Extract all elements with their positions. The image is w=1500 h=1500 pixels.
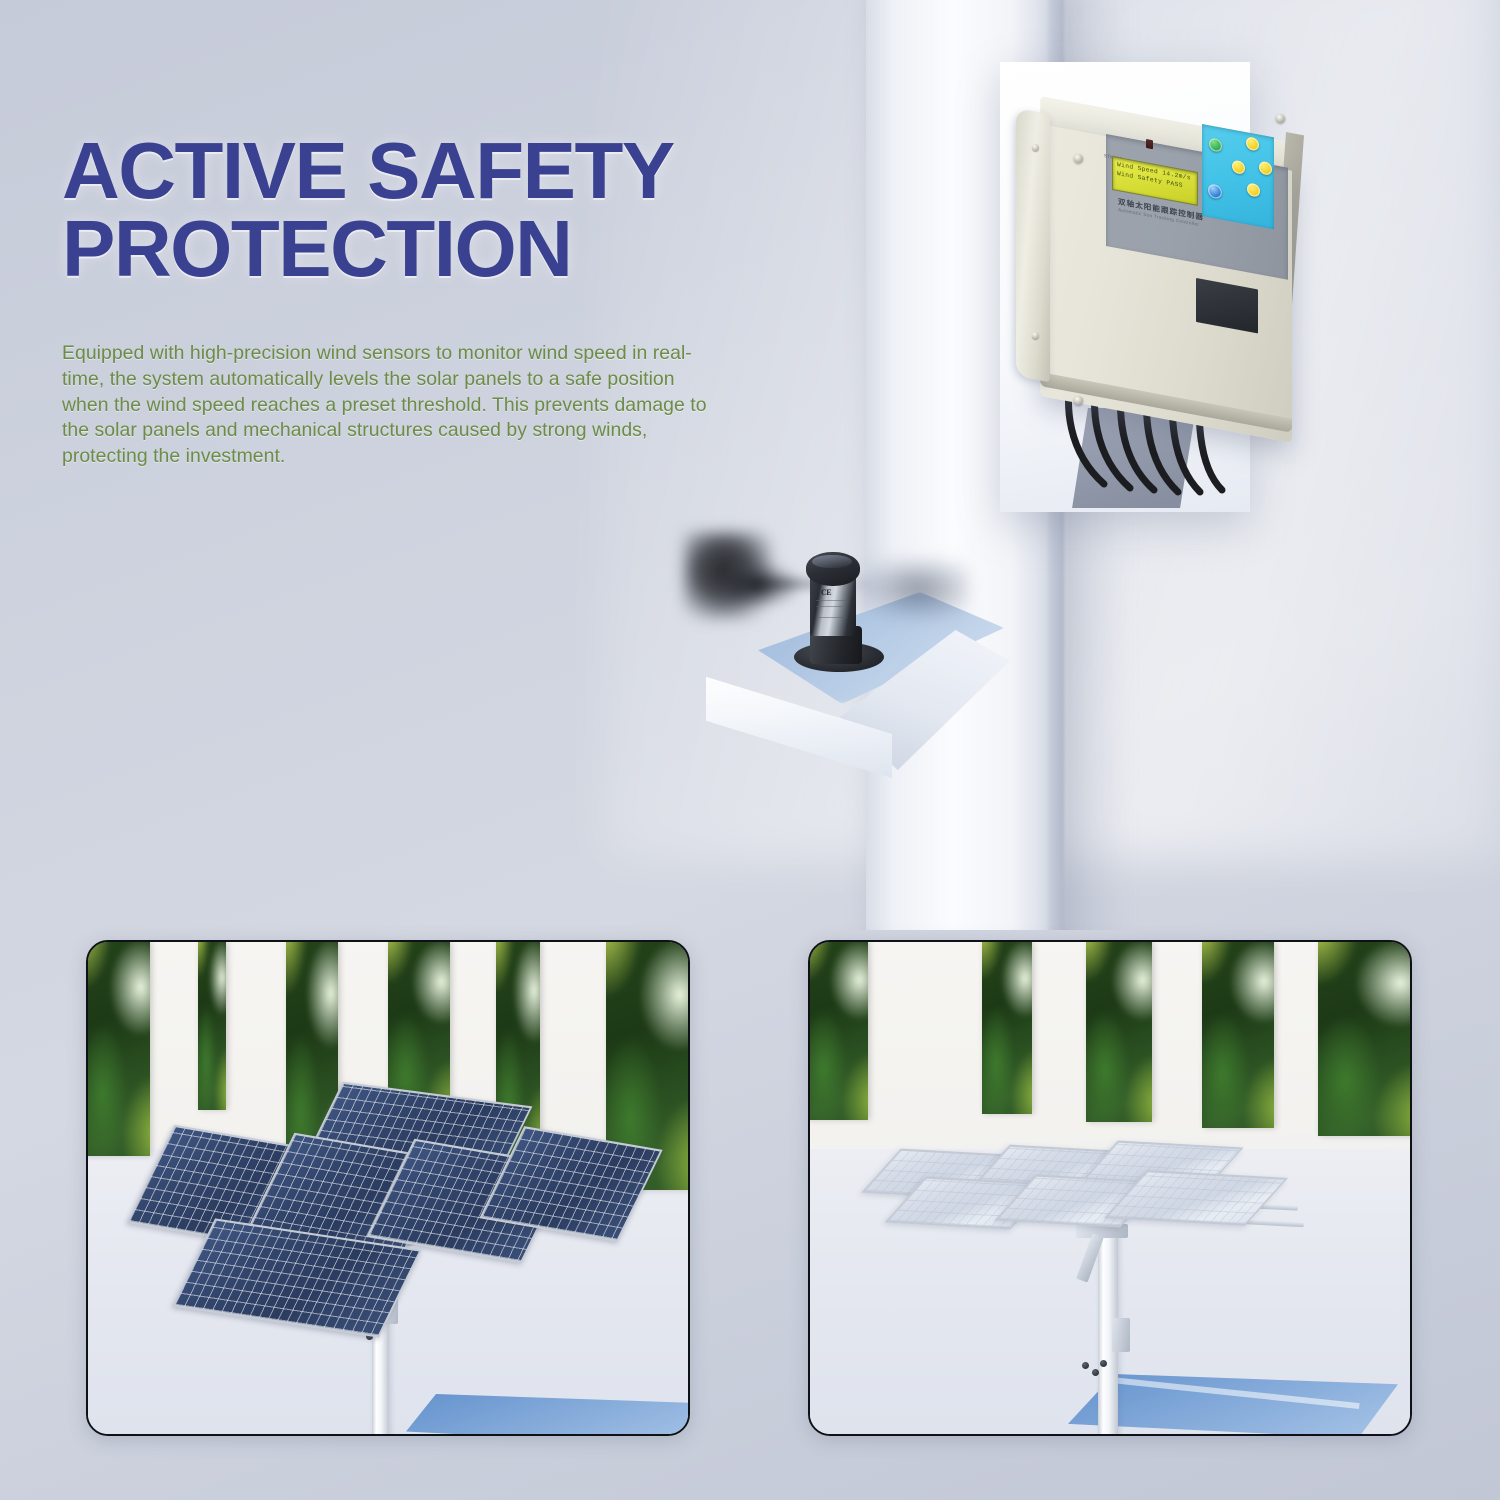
hinge-screw-lower [1032,332,1039,339]
photo-safe-flat-position[interactable] [808,940,1412,1436]
window-slot [808,942,868,1120]
left-button[interactable] [1232,160,1245,175]
solar-tracking-controller[interactable]: STM800 Wind Speed 14.2m/s Wind Safety PA… [1018,96,1298,416]
right-button[interactable] [1259,161,1272,176]
headline-line-2: PROTECTION [62,210,802,288]
window-slot [86,942,150,1156]
window-slot [198,942,226,1110]
hinge-screw-upper [1032,144,1039,151]
lid-screw-bottom-left [1074,396,1083,405]
lid-screw-right [1276,114,1285,123]
anemometer-assembly: CE [690,520,1030,810]
anemometer-label-line-3 [816,617,846,618]
page-title: ACTIVE SAFETY PROTECTION [62,132,802,289]
enter-button[interactable] [1208,183,1222,200]
window-slot [1318,942,1412,1136]
anemometer-cup-blur-left-2 [728,564,798,606]
status-led-icon [1146,139,1153,149]
anemometer-cup-blur-right [858,560,968,620]
menu-button[interactable] [1209,137,1222,152]
down-button[interactable] [1247,182,1260,197]
body-description: Equipped with high-precision wind sensor… [62,341,707,470]
window-slot [1202,942,1274,1128]
tracker-actuator [1112,1318,1130,1352]
photo-tracking-position[interactable] [86,940,690,1436]
anemometer-cap-highlight [812,555,852,568]
up-button[interactable] [1246,136,1259,151]
window-slot [982,942,1032,1114]
ce-mark-label: CE [821,588,831,597]
headline-line-1: ACTIVE SAFETY [62,126,674,215]
anemometer-label-line-1 [816,600,848,601]
lid-screw-left [1074,154,1083,163]
anemometer-label-line-2 [816,606,842,607]
pole-anemometer-icon [1082,1360,1110,1376]
window-slot [1086,942,1152,1122]
keypad-panel[interactable] [1202,124,1274,229]
